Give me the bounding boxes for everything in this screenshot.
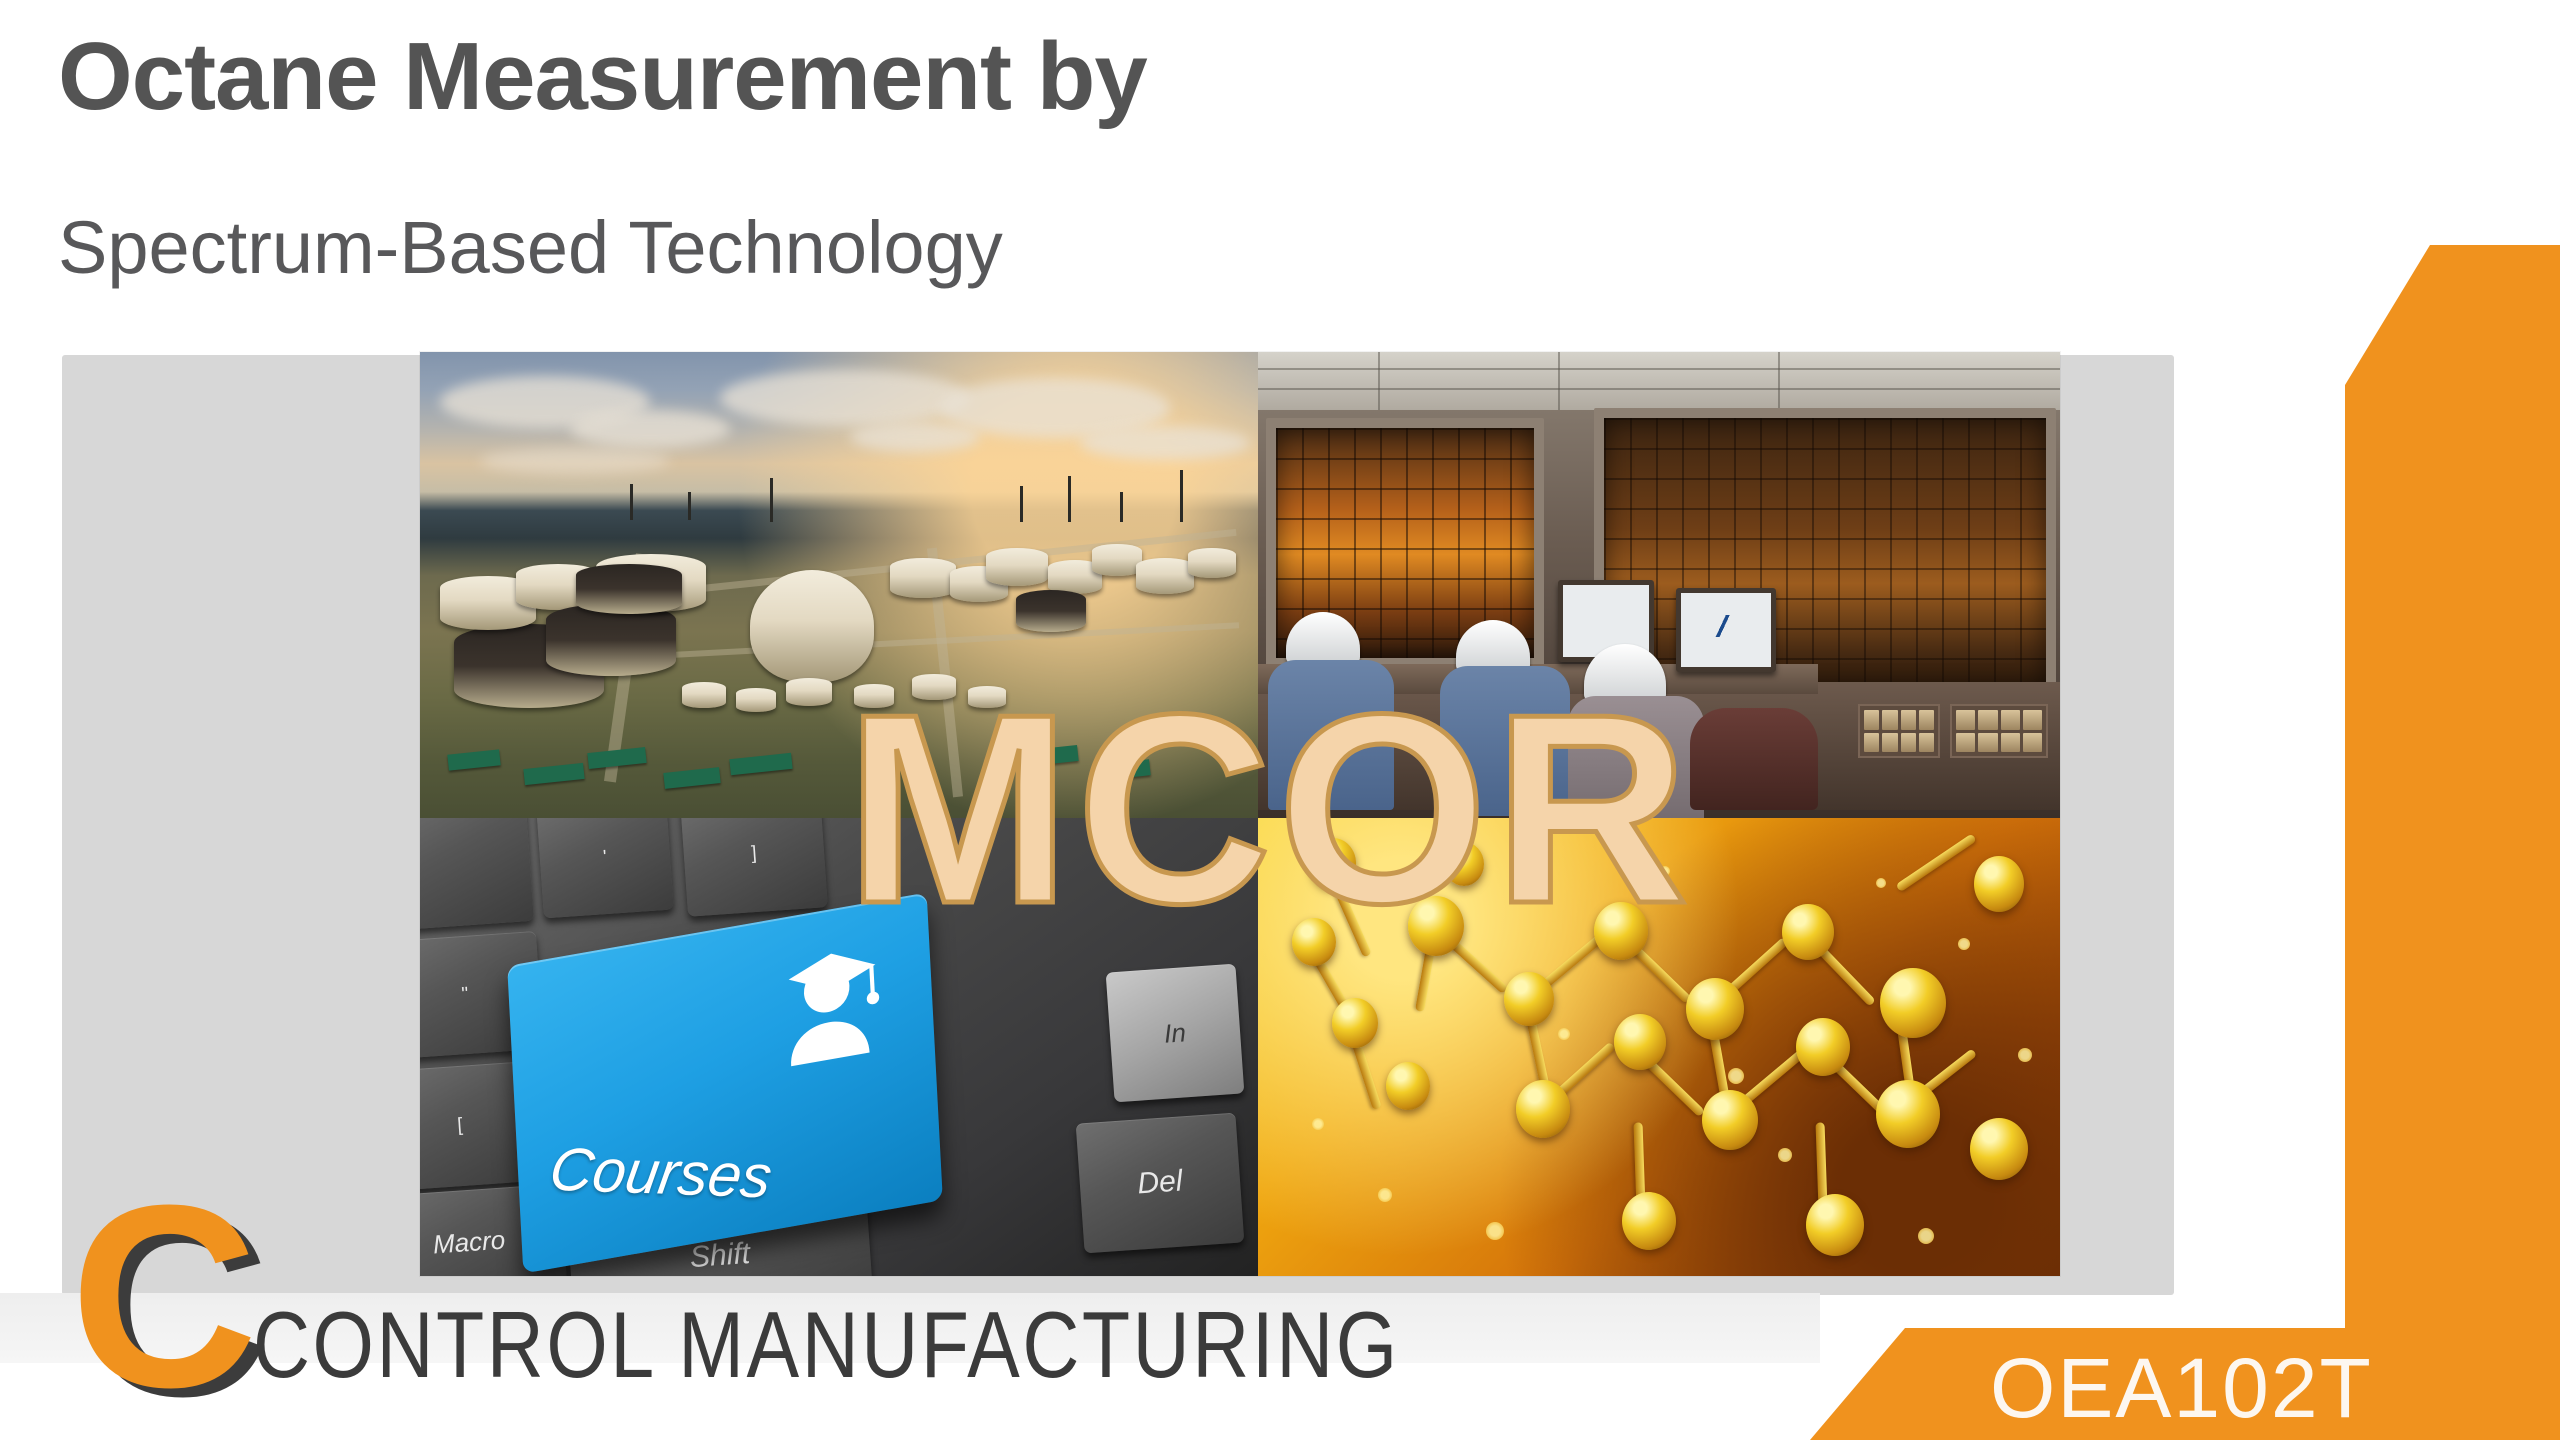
molecule-photo: [1258, 818, 2060, 1276]
keyboard-key-blank: [420, 818, 534, 931]
keyboard-key-delete: Del: [1076, 1113, 1245, 1254]
keyboard-key-insert: In: [1106, 964, 1245, 1103]
courses-key-label: Courses: [545, 1134, 776, 1211]
page-subtitle: Spectrum-Based Technology: [58, 205, 2158, 291]
keyboard-key-bracket-close: ]: [680, 818, 828, 917]
refinery-aerial-photo: [420, 352, 1258, 818]
orange-accent-band: [2345, 245, 2560, 1440]
keyboard-key-courses: Courses: [507, 892, 943, 1273]
control-manufacturing-logo: C: [70, 1185, 230, 1410]
image-collage: ' ] " [ Macro Shift In Del Courses: [420, 352, 2060, 1276]
page-title: Octane Measurement by: [58, 20, 2158, 134]
brand-name: CONTROL MANUFACTURING: [253, 1285, 1345, 1405]
slide-canvas: Octane Measurement by Spectrum-Based Tec…: [0, 0, 2560, 1440]
courses-keyboard-photo: ' ] " [ Macro Shift In Del Courses: [420, 818, 1258, 1276]
course-code: OEA102T: [1990, 1336, 2510, 1440]
control-room-photo: [1258, 352, 2060, 818]
keyboard-key-apostrophe: ': [536, 818, 673, 918]
graduate-icon: [767, 932, 901, 1075]
